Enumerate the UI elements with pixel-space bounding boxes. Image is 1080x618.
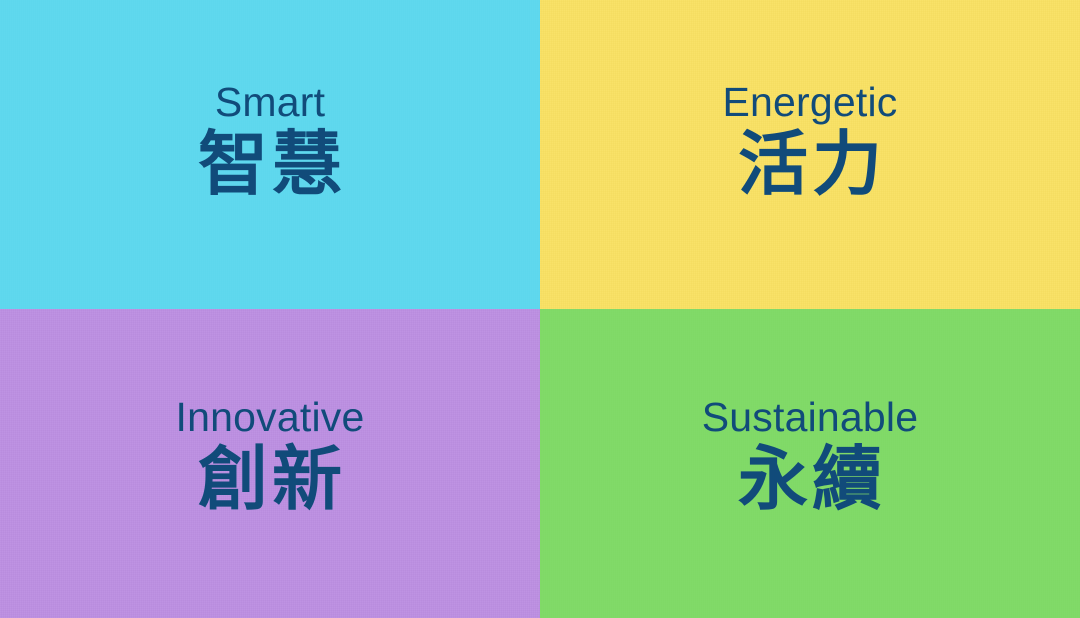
quadrant-energetic-label-zh: 活力 xyxy=(734,129,886,199)
quadrant-smart-text-stack: Smart 智慧 xyxy=(194,82,346,199)
quadrant-innovative-label-en: Innovative xyxy=(176,397,365,438)
quadrant-sustainable-label-zh: 永續 xyxy=(734,444,886,514)
quadrant-smart: Smart 智慧 xyxy=(0,0,540,309)
quadrant-sustainable-text-stack: Sustainable 永續 xyxy=(702,397,918,514)
quadrant-smart-label-zh: 智慧 xyxy=(194,129,346,199)
quadrant-sustainable-label-en: Sustainable xyxy=(702,397,918,438)
quadrant-sustainable: Sustainable 永續 xyxy=(540,309,1080,618)
quadrant-energetic: Energetic 活力 xyxy=(540,0,1080,309)
quadrant-innovative: Innovative 創新 xyxy=(0,309,540,618)
quadrant-energetic-text-stack: Energetic 活力 xyxy=(722,82,897,199)
quadrant-innovative-label-zh: 創新 xyxy=(194,444,346,514)
quadrant-energetic-label-en: Energetic xyxy=(722,82,897,123)
brand-values-poster: Smart 智慧 Energetic 活力 Innovative 創新 Sust… xyxy=(0,0,1080,618)
quadrant-smart-label-en: Smart xyxy=(215,82,325,123)
quadrant-innovative-text-stack: Innovative 創新 xyxy=(176,397,365,514)
